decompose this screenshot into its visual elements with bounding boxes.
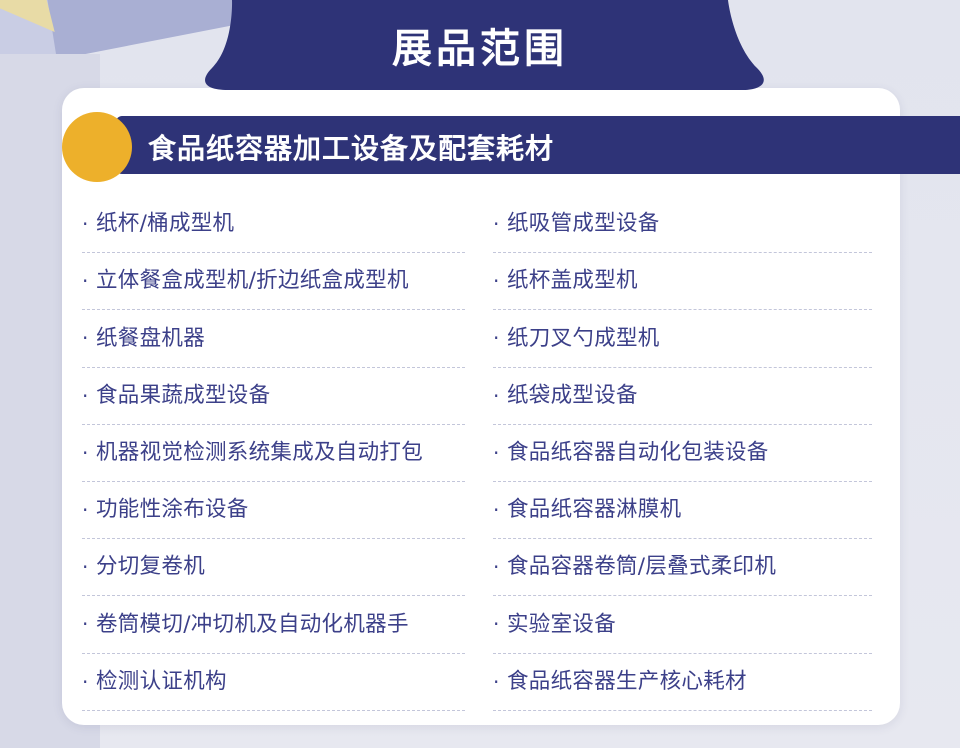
list-item-label: 分切复卷机 [96, 554, 205, 580]
list-item-label: 食品纸容器自动化包装设备 [507, 440, 769, 466]
bullet-dot-icon: · [493, 500, 507, 520]
list-item-label: 纸刀叉勺成型机 [507, 326, 660, 352]
list-item[interactable]: ·纸餐盘机器 [82, 310, 465, 367]
bullet-dot-icon: · [493, 672, 507, 692]
bullet-dot-icon: · [493, 271, 507, 291]
list-item-label: 卷筒模切/冲切机及自动化机器手 [96, 612, 409, 638]
list-item[interactable]: ·实验室设备 [493, 596, 872, 653]
exhibit-list-right-column: ·纸吸管成型设备·纸杯盖成型机·纸刀叉勺成型机·纸袋成型设备·食品纸容器自动化包… [481, 196, 900, 711]
list-item-label: 食品纸容器淋膜机 [507, 497, 681, 523]
list-item[interactable]: ·分切复卷机 [82, 539, 465, 596]
list-item[interactable]: ·食品纸容器淋膜机 [493, 482, 872, 539]
list-item[interactable]: ·纸吸管成型设备 [493, 196, 872, 253]
bullet-dot-icon: · [493, 614, 507, 634]
page-root: 展品范围 食品纸容器加工设备及配套耗材 ·纸杯/桶成型机·立体餐盒成型机/折边纸… [0, 0, 960, 748]
list-item[interactable]: ·纸袋成型设备 [493, 368, 872, 425]
list-item-label: 实验室设备 [507, 612, 616, 638]
banner-ribbon-path [205, 0, 764, 90]
bullet-dot-icon: · [82, 500, 96, 520]
list-item-label: 纸杯/桶成型机 [96, 211, 234, 237]
list-item-label: 立体餐盒成型机/折边纸盒成型机 [96, 268, 409, 294]
exhibit-scope-lists: ·纸杯/桶成型机·立体餐盒成型机/折边纸盒成型机·纸餐盘机器·食品果蔬成型设备·… [62, 196, 900, 711]
list-item-label: 纸吸管成型设备 [507, 211, 660, 237]
list-item[interactable]: ·纸刀叉勺成型机 [493, 310, 872, 367]
bullet-dot-icon: · [493, 386, 507, 406]
list-item[interactable]: ·功能性涂布设备 [82, 482, 465, 539]
list-item[interactable]: ·食品果蔬成型设备 [82, 368, 465, 425]
section-title: 食品纸容器加工设备及配套耗材 [148, 127, 554, 167]
list-item-label: 纸餐盘机器 [96, 326, 205, 352]
list-item[interactable]: ·立体餐盒成型机/折边纸盒成型机 [82, 253, 465, 310]
list-item[interactable]: ·食品纸容器生产核心耗材 [493, 654, 872, 711]
exhibit-list-left-column: ·纸杯/桶成型机·立体餐盒成型机/折边纸盒成型机·纸餐盘机器·食品果蔬成型设备·… [62, 196, 481, 711]
list-item[interactable]: ·食品纸容器自动化包装设备 [493, 425, 872, 482]
list-item-label: 纸杯盖成型机 [507, 268, 638, 294]
bullet-dot-icon: · [82, 271, 96, 291]
bullet-dot-icon: · [493, 214, 507, 234]
list-item-label: 检测认证机构 [96, 669, 227, 695]
bullet-dot-icon: · [82, 328, 96, 348]
list-item[interactable]: ·卷筒模切/冲切机及自动化机器手 [82, 596, 465, 653]
bullet-dot-icon: · [493, 557, 507, 577]
list-item[interactable]: ·机器视觉检测系统集成及自动打包 [82, 425, 465, 482]
bullet-dot-icon: · [82, 672, 96, 692]
bullet-dot-icon: · [82, 614, 96, 634]
section-header: 食品纸容器加工设备及配套耗材 [62, 110, 960, 176]
bullet-dot-icon: · [493, 328, 507, 348]
bullet-dot-icon: · [493, 443, 507, 463]
bullet-dot-icon: · [82, 214, 96, 234]
list-item-label: 纸袋成型设备 [507, 383, 638, 409]
list-item-label: 功能性涂布设备 [96, 497, 249, 523]
list-item[interactable]: ·纸杯盖成型机 [493, 253, 872, 310]
bullet-dot-icon: · [82, 443, 96, 463]
list-item[interactable]: ·食品容器卷筒/层叠式柔印机 [493, 539, 872, 596]
list-item-label: 食品纸容器生产核心耗材 [507, 669, 747, 695]
list-item-label: 机器视觉检测系统集成及自动打包 [96, 440, 423, 466]
banner-right-yellow-circle-icon [664, 8, 736, 80]
bullet-dot-icon: · [82, 557, 96, 577]
list-item[interactable]: ·检测认证机构 [82, 654, 465, 711]
list-item-label: 食品容器卷筒/层叠式柔印机 [507, 554, 776, 580]
list-item-label: 食品果蔬成型设备 [96, 383, 270, 409]
list-item[interactable]: ·纸杯/桶成型机 [82, 196, 465, 253]
bullet-dot-icon: · [82, 386, 96, 406]
section-yellow-circle-icon [62, 112, 132, 182]
